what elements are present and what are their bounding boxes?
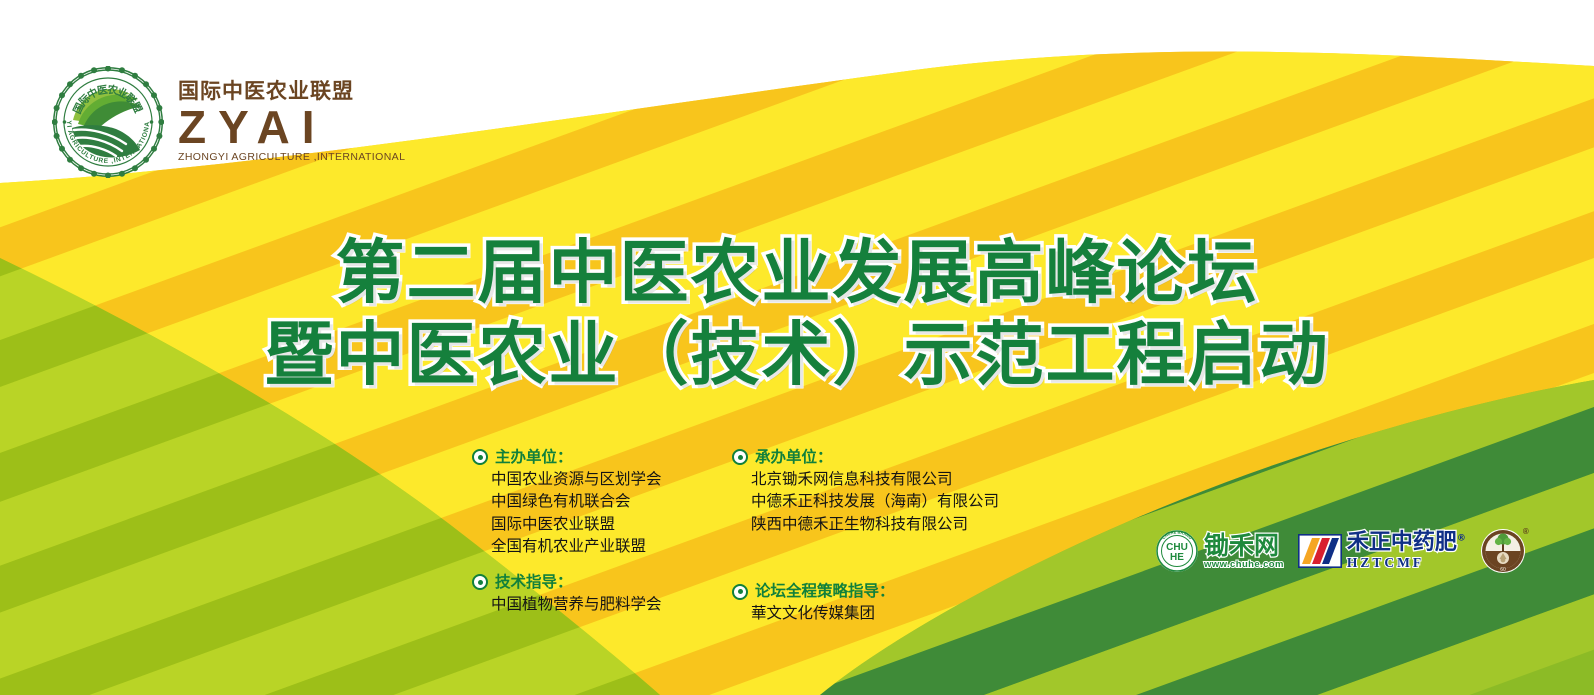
sponsor-logos: CHU HE CHUHE BRAND 锄禾网 www.chuhe.com — [1155, 528, 1526, 574]
hztcmf-wordmark: 禾正中药肥® HZTCMF — [1347, 532, 1466, 570]
registered-mark-icon: ® — [1457, 534, 1466, 544]
tree-emblem-icon: 60 — [1480, 528, 1526, 574]
credit-item: 陕西中德禾正生物科技有限公司 — [751, 513, 1000, 535]
credit-item: 北京锄禾网信息科技有限公司 — [751, 468, 1000, 490]
sponsor-chuhe-logo: CHU HE CHUHE BRAND 锄禾网 www.chuhe.com — [1155, 529, 1284, 573]
credit-group-organizers: 主办单位： 中国农业资源与区划学会 中国绿色有机联合会 国际中医农业联盟 全国有… — [472, 447, 740, 558]
credit-heading: 承办单位： — [732, 447, 1000, 468]
credit-item: 華文文化传媒集团 — [751, 602, 1000, 624]
chuhe-wordmark: 锄禾网 www.chuhe.com — [1204, 533, 1284, 570]
hztcmf-z-mark-icon — [1298, 534, 1342, 568]
bullet-icon — [472, 574, 488, 590]
credit-item: 中国农业资源与区划学会 — [491, 468, 740, 490]
chuhe-url: www.chuhe.com — [1204, 560, 1284, 570]
credit-heading: 论坛全程策略指导： — [732, 581, 1000, 602]
credits-block: 主办单位： 中国农业资源与区划学会 中国绿色有机联合会 国际中医农业联盟 全国有… — [472, 447, 1000, 625]
zyai-name-cn: 国际中医农业联盟 — [178, 81, 354, 102]
sponsor-tree-emblem-logo: 60 ® — [1480, 528, 1526, 574]
conference-banner: 国际中医农业联盟 ZHONGYI AGRICULTURE ,INTERNATIO… — [0, 0, 1594, 695]
credits-column-right: 承办单位： 北京锄禾网信息科技有限公司 中德禾正科技发展（海南）有限公司 陕西中… — [732, 447, 1000, 625]
zyai-name-en: ZHONGYI AGRICULTURE ,INTERNATIONAL — [178, 152, 405, 163]
credit-heading-label: 承办单位： — [755, 447, 833, 468]
credit-heading: 主办单位： — [472, 447, 740, 468]
credit-item: 全国有机农业产业联盟 — [491, 535, 740, 557]
credit-heading-label: 论坛全程策略指导： — [755, 581, 895, 602]
credit-item: 国际中医农业联盟 — [491, 513, 740, 535]
hztcmf-name-en: HZTCMF — [1347, 556, 1466, 570]
credit-group-technical-guidance: 技术指导： 中国植物营养与肥料学会 — [472, 572, 740, 615]
zyai-acronym: ZYAI — [178, 103, 327, 151]
zyai-logo-lockup: 国际中医农业联盟 ZHONGYI AGRICULTURE ,INTERNATIO… — [52, 66, 405, 178]
chuhe-seal-icon: CHU HE CHUHE BRAND — [1155, 529, 1199, 573]
zyai-wordmark: 国际中医农业联盟 ZYAI ZHONGYI AGRICULTURE ,INTER… — [178, 81, 405, 163]
sponsor-hztcmf-logo: 禾正中药肥® HZTCMF — [1298, 532, 1466, 570]
hztcmf-name-cn-text: 禾正中药肥 — [1347, 530, 1457, 555]
credit-item: 中国植物营养与肥料学会 — [491, 593, 740, 615]
bullet-icon — [732, 584, 748, 600]
credit-heading: 技术指导： — [472, 572, 740, 593]
credits-column-left: 主办单位： 中国农业资源与区划学会 中国绿色有机联合会 国际中医农业联盟 全国有… — [472, 447, 740, 625]
credit-group-strategy-guidance: 论坛全程策略指导： 華文文化传媒集团 — [732, 581, 1000, 624]
credit-item: 中德禾正科技发展（海南）有限公司 — [751, 490, 1000, 512]
credit-heading-label: 技术指导： — [495, 572, 573, 593]
svg-text:HE: HE — [1170, 552, 1184, 563]
zyai-seal-icon: 国际中医农业联盟 ZHONGYI AGRICULTURE ,INTERNATIO… — [52, 66, 164, 178]
hztcmf-name-cn: 禾正中药肥® — [1347, 532, 1466, 554]
credit-item: 中国绿色有机联合会 — [491, 490, 740, 512]
bullet-icon — [472, 449, 488, 465]
tree-emblem-registered-mark-icon: ® — [1523, 527, 1529, 536]
chuhe-name-cn: 锄禾网 — [1204, 533, 1284, 558]
credit-group-co-organizers: 承办单位： 北京锄禾网信息科技有限公司 中德禾正科技发展（海南）有限公司 陕西中… — [732, 447, 1000, 535]
credit-heading-label: 主办单位： — [495, 447, 573, 468]
bullet-icon — [732, 449, 748, 465]
svg-text:60: 60 — [1500, 567, 1506, 573]
